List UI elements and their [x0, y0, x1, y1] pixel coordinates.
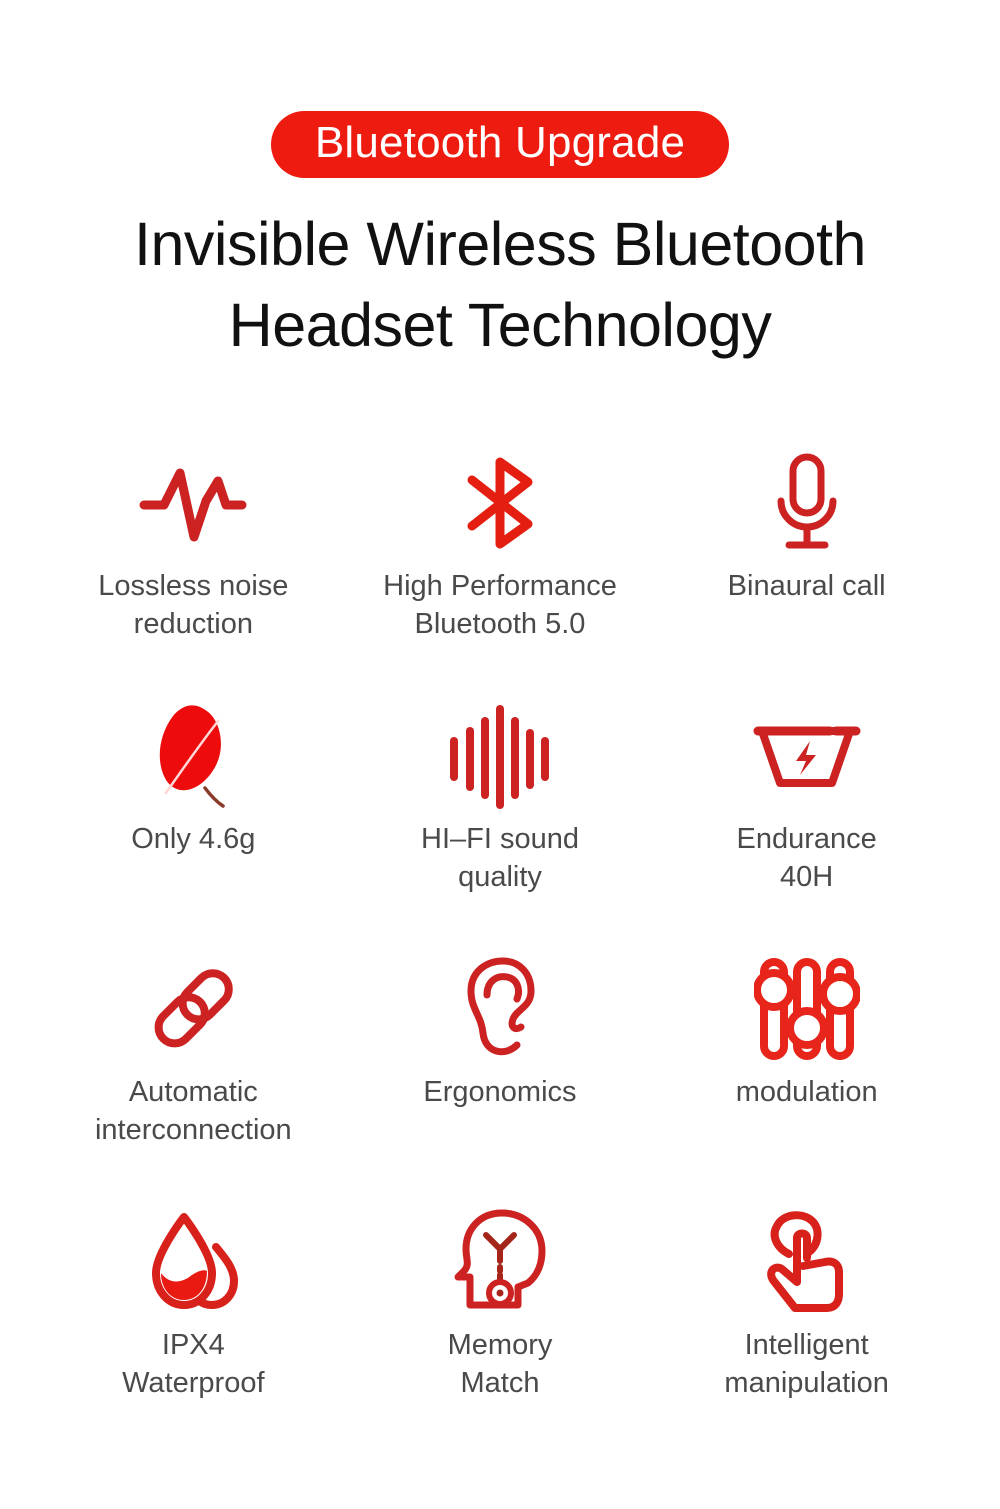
- badge-container: Bluetooth Upgrade: [0, 0, 1000, 178]
- feature-item-automatic-interconnection: Automatic interconnection: [40, 950, 347, 1203]
- feature-label: modulation: [736, 1074, 878, 1111]
- feature-label: Endurance 40H: [737, 821, 877, 895]
- page-title: Invisible Wireless Bluetooth Headset Tec…: [0, 204, 1000, 366]
- microphone-icon: [765, 444, 849, 562]
- feature-label: High Performance Bluetooth 5.0: [383, 568, 617, 642]
- sliders-icon: [754, 950, 860, 1068]
- head-memory-icon: [450, 1203, 550, 1321]
- ear-icon: [459, 950, 541, 1068]
- feature-item-endurance: Endurance 40H: [653, 697, 960, 950]
- feature-item-waterproof: IPX4 Waterproof: [40, 1203, 347, 1456]
- waveform-icon: [138, 444, 248, 562]
- feature-item-intelligent-manipulation: Intelligent manipulation: [653, 1203, 960, 1456]
- feature-label: HI–FI sound quality: [421, 821, 579, 895]
- feature-label: Intelligent manipulation: [724, 1327, 888, 1401]
- feature-grid: Lossless noise reduction High Performanc…: [0, 444, 1000, 1456]
- feature-item-hifi-sound: HI–FI sound quality: [347, 697, 654, 950]
- feature-label: Lossless noise reduction: [98, 568, 288, 642]
- product-feature-page: Bluetooth Upgrade Invisible Wireless Blu…: [0, 0, 1000, 1509]
- battery-charge-icon: [752, 697, 862, 815]
- bluetooth-upgrade-badge: Bluetooth Upgrade: [271, 111, 729, 178]
- feature-item-binaural-call: Binaural call: [653, 444, 960, 697]
- feather-icon: [143, 697, 243, 815]
- bluetooth-icon: [454, 444, 546, 562]
- sound-bars-icon: [446, 697, 554, 815]
- feature-label: Only 4.6g: [131, 821, 255, 858]
- feature-label: Ergonomics: [423, 1074, 576, 1111]
- feature-item-modulation: modulation: [653, 950, 960, 1203]
- feature-label: IPX4 Waterproof: [122, 1327, 264, 1401]
- feature-item-bluetooth-5: High Performance Bluetooth 5.0: [347, 444, 654, 697]
- feature-item-lossless-noise-reduction: Lossless noise reduction: [40, 444, 347, 697]
- tap-hand-icon: [759, 1203, 855, 1321]
- chain-link-icon: [143, 950, 243, 1068]
- feature-item-weight: Only 4.6g: [40, 697, 347, 950]
- feature-label: Binaural call: [728, 568, 886, 605]
- feature-item-memory-match: Memory Match: [347, 1203, 654, 1456]
- water-drops-icon: [140, 1203, 246, 1321]
- feature-item-ergonomics: Ergonomics: [347, 950, 654, 1203]
- feature-label: Automatic interconnection: [95, 1074, 292, 1148]
- feature-label: Memory Match: [448, 1327, 553, 1401]
